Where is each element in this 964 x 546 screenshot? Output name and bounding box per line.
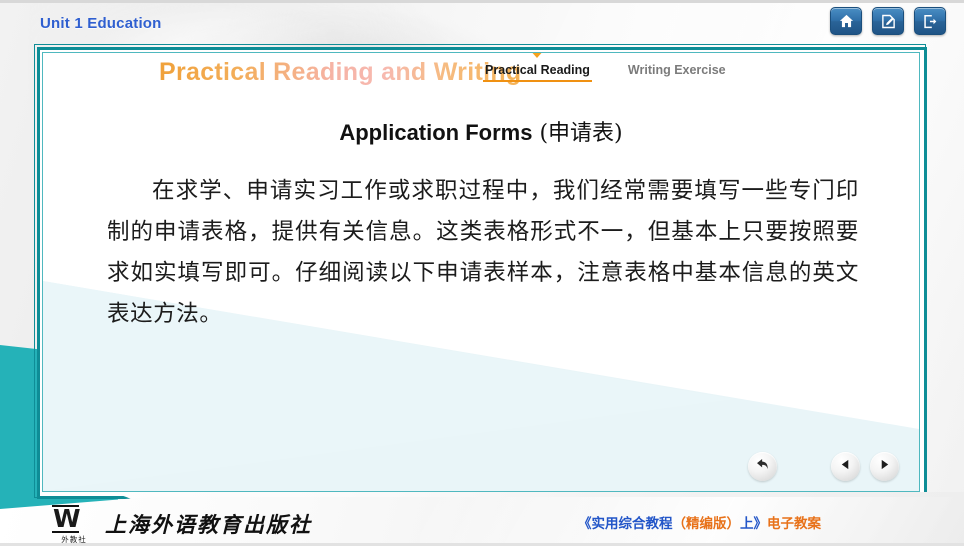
slide-tab-bar: Practical Reading Writing Exercise <box>483 61 728 82</box>
lesson-title: Application Forms (申请表) <box>43 115 919 147</box>
course-title-segment-4: 电子教案 <box>767 516 821 532</box>
page-title: Unit 1 Education <box>40 15 162 32</box>
home-button[interactable] <box>830 7 862 35</box>
section-title: Practical Reading and Writing <box>159 58 521 87</box>
course-title-segment-3: 上》 <box>740 516 767 532</box>
publisher-logo-mark: W 外教社 <box>52 505 96 537</box>
course-title-segment-2: （精编版） <box>673 516 741 532</box>
publisher-name: 上海外语教育出版社 <box>105 513 312 537</box>
previous-button[interactable] <box>831 452 860 481</box>
tab-label: Writing Exercise <box>628 63 726 77</box>
active-tab-caret-icon <box>529 52 545 58</box>
slide-navigation-controls <box>748 452 899 481</box>
tab-writing-exercise[interactable]: Writing Exercise <box>626 61 728 82</box>
return-button[interactable] <box>748 452 777 481</box>
triangle-right-icon <box>878 458 891 476</box>
next-button[interactable] <box>870 452 899 481</box>
notes-button[interactable] <box>872 7 904 35</box>
exit-icon <box>923 14 938 29</box>
return-arrow-icon <box>754 456 771 478</box>
lesson-body-paragraph: 在求学、申请实习工作或求职过程中，我们经常需要填写一些专门印制的申请表格，提供有… <box>107 171 859 335</box>
top-divider-line <box>0 0 964 3</box>
tab-practical-reading[interactable]: Practical Reading <box>483 61 592 82</box>
triangle-left-icon <box>839 458 852 476</box>
slide-header-row: Practical Reading and Writing Practical … <box>43 53 919 93</box>
exit-button[interactable] <box>914 7 946 35</box>
course-title-footer: 《实用综合教程（精编版）上》电子教案 <box>578 512 821 532</box>
active-tab-underline <box>483 80 592 83</box>
lesson-title-chinese: (申请表) <box>532 121 622 146</box>
lesson-title-english: Application Forms <box>339 120 532 145</box>
home-icon <box>839 14 854 28</box>
course-title-segment-1: 《实用综合教程 <box>578 516 673 532</box>
tab-label: Practical Reading <box>485 63 590 77</box>
edit-note-icon <box>881 14 896 29</box>
logo-w-glyph: W <box>52 505 79 533</box>
publisher-logo: W 外教社 上海外语教育出版社 <box>52 505 312 537</box>
slide-content-area: Practical Reading and Writing Practical … <box>42 52 920 492</box>
header-button-group <box>830 7 946 35</box>
presentation-slide-window: Unit 1 Education <box>0 0 964 546</box>
